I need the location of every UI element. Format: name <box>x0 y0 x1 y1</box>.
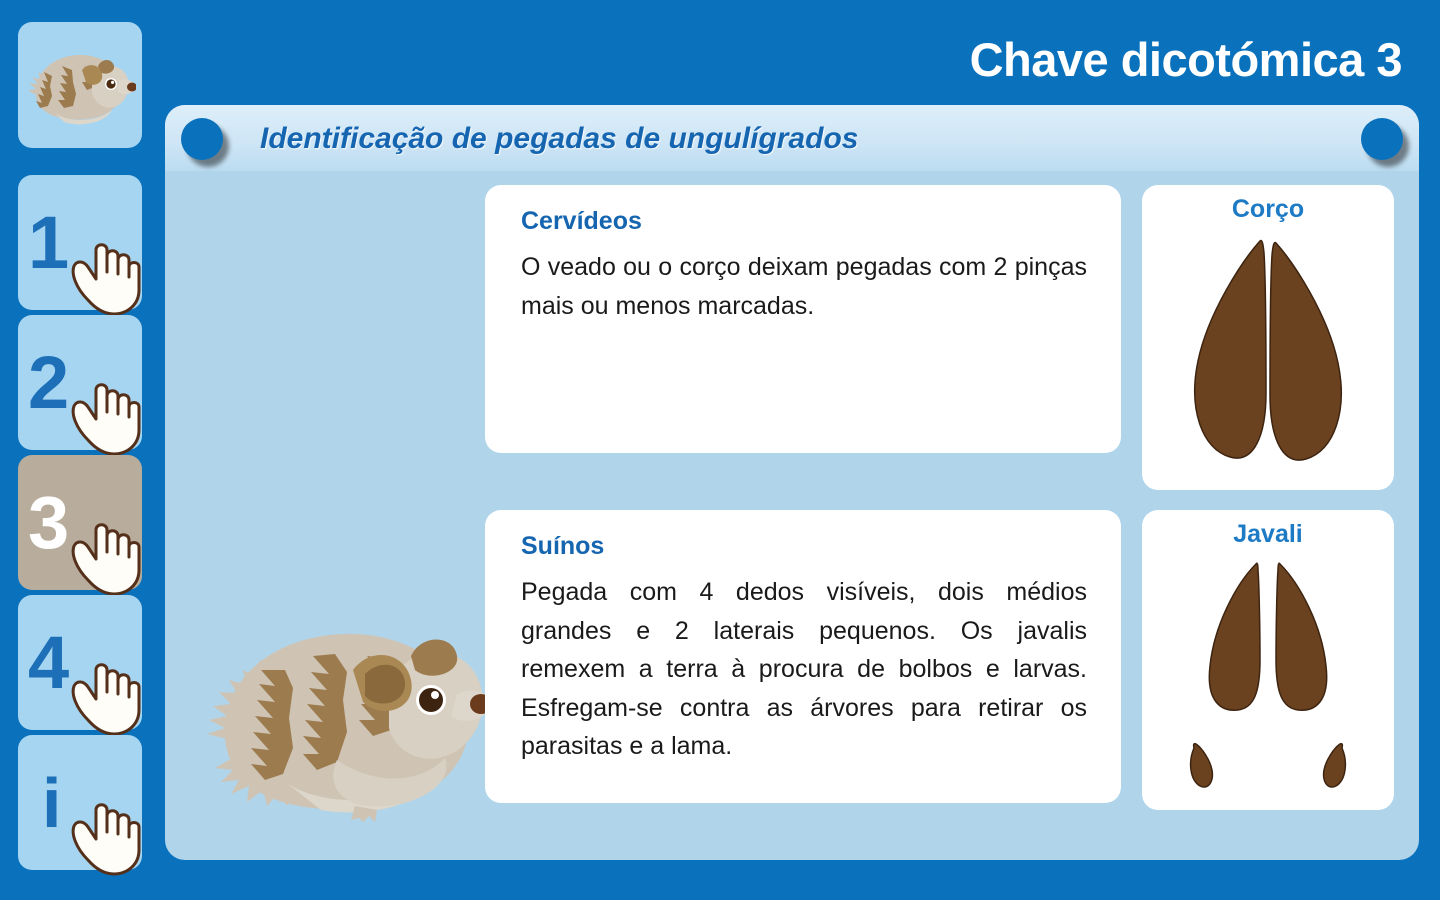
subtitle-band: Identificação de pegadas de ungulígrados <box>165 105 1419 171</box>
pointing-hand-icon <box>66 794 148 878</box>
hedgehog-illustration <box>205 610 490 825</box>
boar-track-icon <box>1180 556 1356 792</box>
sidebar-item-home[interactable] <box>18 22 142 148</box>
track-card-title: Javali <box>1142 520 1394 549</box>
app-root: 1 2 3 4 <box>0 0 1440 900</box>
hedgehog-icon <box>26 44 136 128</box>
sidebar-item-label: 2 <box>28 346 69 420</box>
info-card-suinos: Suínos Pegada com 4 dedos visíveis, dois… <box>485 510 1121 803</box>
card-title: Cervídeos <box>521 207 1087 236</box>
sidebar-item-info[interactable]: i <box>18 735 142 870</box>
track-card-corco[interactable]: Corço <box>1142 185 1394 490</box>
page-title: Chave dicotómica 3 <box>970 32 1402 87</box>
pointing-hand-icon <box>66 374 148 458</box>
card-title: Suínos <box>521 532 1087 561</box>
pointing-hand-icon <box>66 654 148 738</box>
track-card-title: Corço <box>1142 195 1394 224</box>
info-card-cervideos: Cervídeos O veado ou o corço deixam pega… <box>485 185 1121 453</box>
band-dot-right-icon <box>1361 118 1403 160</box>
sidebar-item-label: i <box>42 768 61 838</box>
card-body: O veado ou o corço deixam pegadas com 2 … <box>521 248 1087 325</box>
sidebar-item-label: 3 <box>28 486 69 560</box>
sidebar-item-key2[interactable]: 2 <box>18 315 142 450</box>
subtitle-text: Identificação de pegadas de ungulígrados <box>260 122 858 156</box>
sidebar-item-key1[interactable]: 1 <box>18 175 142 310</box>
sidebar-item-key4[interactable]: 4 <box>18 595 142 730</box>
deer-track-icon <box>1180 231 1356 471</box>
sidebar-item-label: 1 <box>28 206 69 280</box>
track-card-javali[interactable]: Javali <box>1142 510 1394 810</box>
sidebar: 1 2 3 4 <box>0 0 160 900</box>
pointing-hand-icon <box>66 514 148 598</box>
sidebar-item-label: 4 <box>28 626 69 700</box>
band-dot-left-icon <box>181 118 223 160</box>
pointing-hand-icon <box>66 234 148 318</box>
card-body: Pegada com 4 dedos visíveis, dois médios… <box>521 573 1087 766</box>
content-panel: Identificação de pegadas de ungulígrados <box>165 105 1419 860</box>
sidebar-item-key3[interactable]: 3 <box>18 455 142 590</box>
